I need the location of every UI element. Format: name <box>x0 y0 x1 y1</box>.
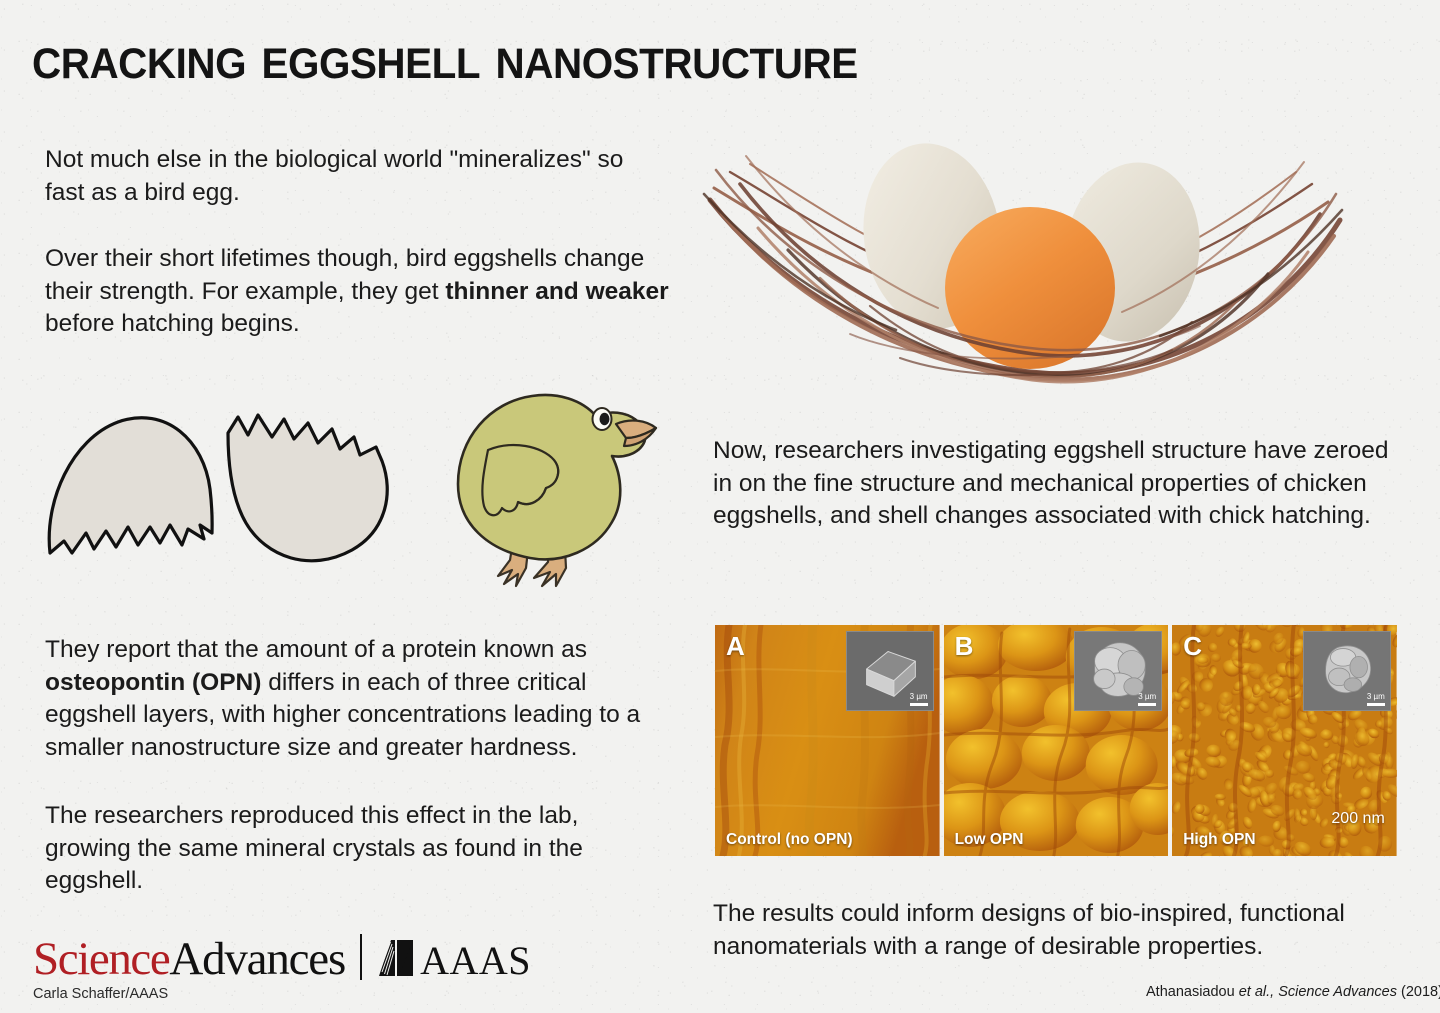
afm-panel-letter: C <box>1183 631 1202 662</box>
paragraph-text: Now, researchers investigating eggshell … <box>713 437 1388 529</box>
paragraph-text: They report that the amount of a protein… <box>45 636 587 663</box>
inset-scale-bar <box>1367 703 1385 706</box>
logo-advances-text: Advances <box>169 936 345 983</box>
sem-inset-a: 3 µm <box>846 631 934 711</box>
nest-illustration <box>700 110 1345 410</box>
sem-inset-b: 3 µm <box>1074 631 1162 711</box>
paragraph-results-conclusion: The results could inform designs of bio-… <box>713 898 1408 963</box>
science-advances-logo[interactable]: ScienceAdvances AAAS <box>33 928 553 988</box>
afm-caption-b: Low OPN <box>955 831 1024 849</box>
eggshell-halves-illustration <box>42 405 412 585</box>
logo-science-text: Science <box>33 936 169 983</box>
credit-line: Carla Schaffer/AAAS <box>33 986 168 1002</box>
afm-scale-label-c: 200 nm <box>1331 810 1384 828</box>
afm-caption-c: High OPN <box>1183 831 1255 849</box>
paragraph-text: The researchers reproduced this effect i… <box>45 802 583 894</box>
emphasis-osteopontin: osteopontin (OPN) <box>45 669 261 696</box>
afm-panel-letter: A <box>726 631 745 662</box>
afm-panel-letter: B <box>955 631 974 662</box>
paragraph-text: The results could inform designs of bio-… <box>713 900 1345 960</box>
chick-illustration <box>450 372 670 597</box>
inset-scale-label: 3 µm <box>910 692 928 701</box>
infographic-canvas: Cracking Eggshell Nanostructure Not much… <box>0 0 1440 1013</box>
paragraph-mineralizes: Not much else in the biological world "m… <box>45 144 665 209</box>
afm-panel-a[interactable]: A 3 µm Control (no OPN) <box>715 625 940 856</box>
aaas-logo-icon <box>375 938 419 978</box>
inset-scale-b: 3 µm <box>1138 693 1156 706</box>
paragraph-text-tail: before hatching begins. <box>45 310 300 337</box>
afm-panel-b[interactable]: B 3 µm Low O <box>944 625 1169 856</box>
paragraph-thinner-weaker: Over their short lifetimes though, bird … <box>45 243 670 341</box>
inset-scale-label: 3 µm <box>1138 692 1156 701</box>
page-title: Cracking Eggshell Nanostructure <box>32 22 1160 92</box>
logo-aaas-text: AAAS <box>420 941 531 981</box>
afm-panel-c[interactable]: C 3 µm 200 nm High <box>1172 625 1397 856</box>
emphasis-thinner-and-weaker: thinner and weaker <box>445 278 668 305</box>
inset-scale-a: 3 µm <box>910 693 928 706</box>
inset-scale-c: 3 µm <box>1367 693 1385 706</box>
citation-year: (2018) <box>1397 984 1440 1000</box>
paragraph-lab-reproduction: The researchers reproduced this effect i… <box>45 800 650 898</box>
afm-panel-group: A 3 µm Control (no OPN) <box>715 625 1397 856</box>
citation-line: Athanasiadou et al., Science Advances (2… <box>1146 984 1440 1000</box>
paragraph-text: Not much else in the biological world "m… <box>45 146 623 206</box>
inset-scale-bar <box>910 703 928 706</box>
citation-author: Athanasiadou <box>1146 984 1239 1000</box>
sem-inset-c: 3 µm <box>1303 631 1391 711</box>
inset-scale-bar <box>1138 703 1156 706</box>
paragraph-osteopontin: They report that the amount of a protein… <box>45 634 660 764</box>
citation-journal: et al., Science Advances <box>1239 984 1397 1000</box>
logo-divider <box>360 934 362 980</box>
paragraph-researchers-zeroed-in: Now, researchers investigating eggshell … <box>713 435 1403 533</box>
afm-caption-a: Control (no OPN) <box>726 831 853 849</box>
inset-scale-label: 3 µm <box>1367 692 1385 701</box>
